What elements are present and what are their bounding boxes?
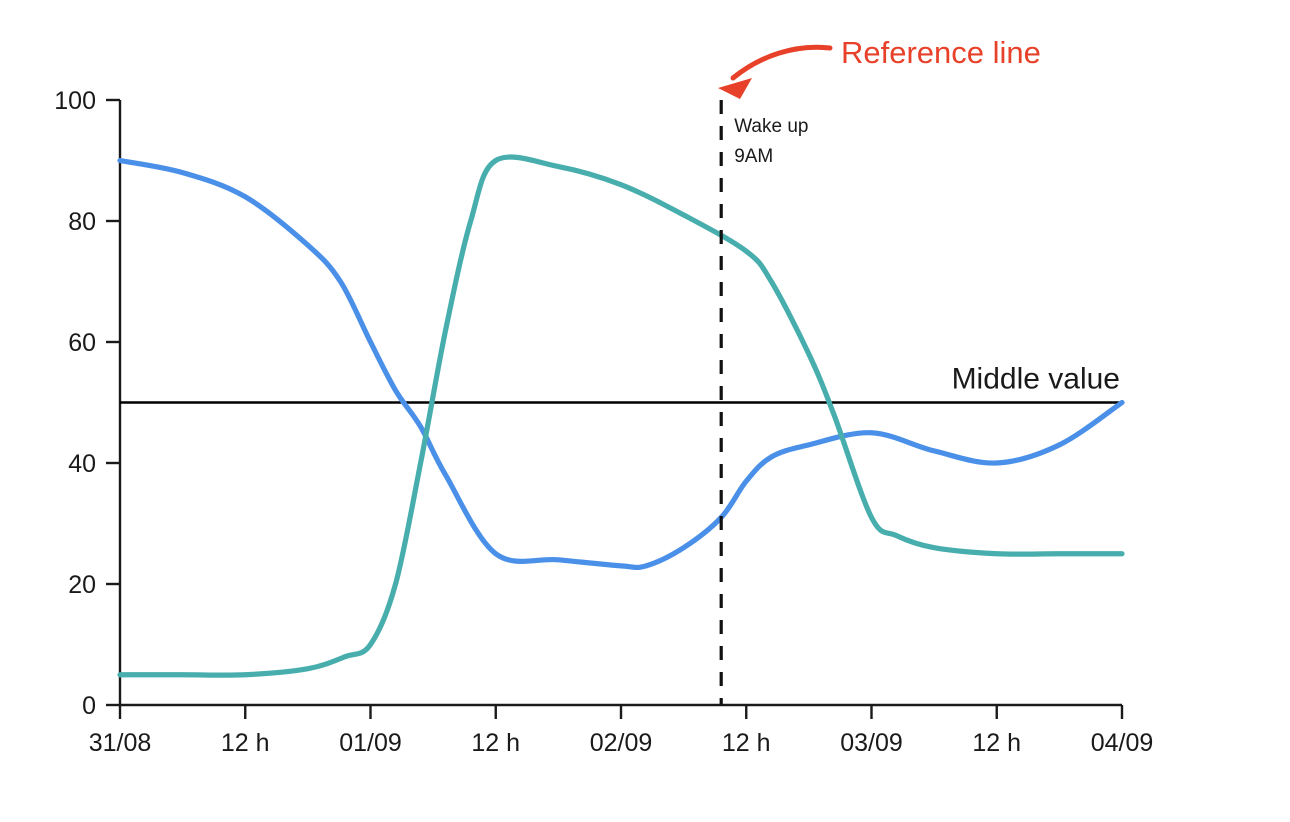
chart-container: 020406080100 31/0812 h01/0912 h02/0912 h… <box>0 0 1290 822</box>
middle-value-label: Middle value <box>952 363 1120 396</box>
series-line-teal <box>120 157 1122 675</box>
x-tick-label: 02/09 <box>590 729 653 757</box>
y-tick-label: 60 <box>68 329 96 357</box>
y-tick-label: 40 <box>68 450 96 478</box>
x-tick-label: 03/09 <box>840 729 903 757</box>
wake-up-label-line2: 9AM <box>734 146 773 167</box>
y-tick-label: 20 <box>68 571 96 599</box>
x-tick-label: 04/09 <box>1091 729 1154 757</box>
y-tick-label: 0 <box>82 692 96 720</box>
y-axis-ticks: 020406080100 <box>54 87 120 720</box>
x-tick-label: 12 h <box>471 729 520 757</box>
reference-line-annotation-label: Reference line <box>841 35 1041 70</box>
line-chart: 020406080100 31/0812 h01/0912 h02/0912 h… <box>0 0 1290 822</box>
x-tick-label: 12 h <box>972 729 1021 757</box>
x-tick-label: 12 h <box>221 729 270 757</box>
y-tick-label: 80 <box>68 208 96 236</box>
reference-line-arrow-icon <box>718 47 830 99</box>
wake-up-label-line1: Wake up <box>734 116 808 137</box>
x-tick-label: 31/08 <box>89 729 152 757</box>
y-tick-label: 100 <box>54 87 96 115</box>
x-axis-ticks: 31/0812 h01/0912 h02/0912 h03/0912 h04/0… <box>89 705 1154 757</box>
x-tick-label: 12 h <box>722 729 771 757</box>
x-tick-label: 01/09 <box>339 729 402 757</box>
